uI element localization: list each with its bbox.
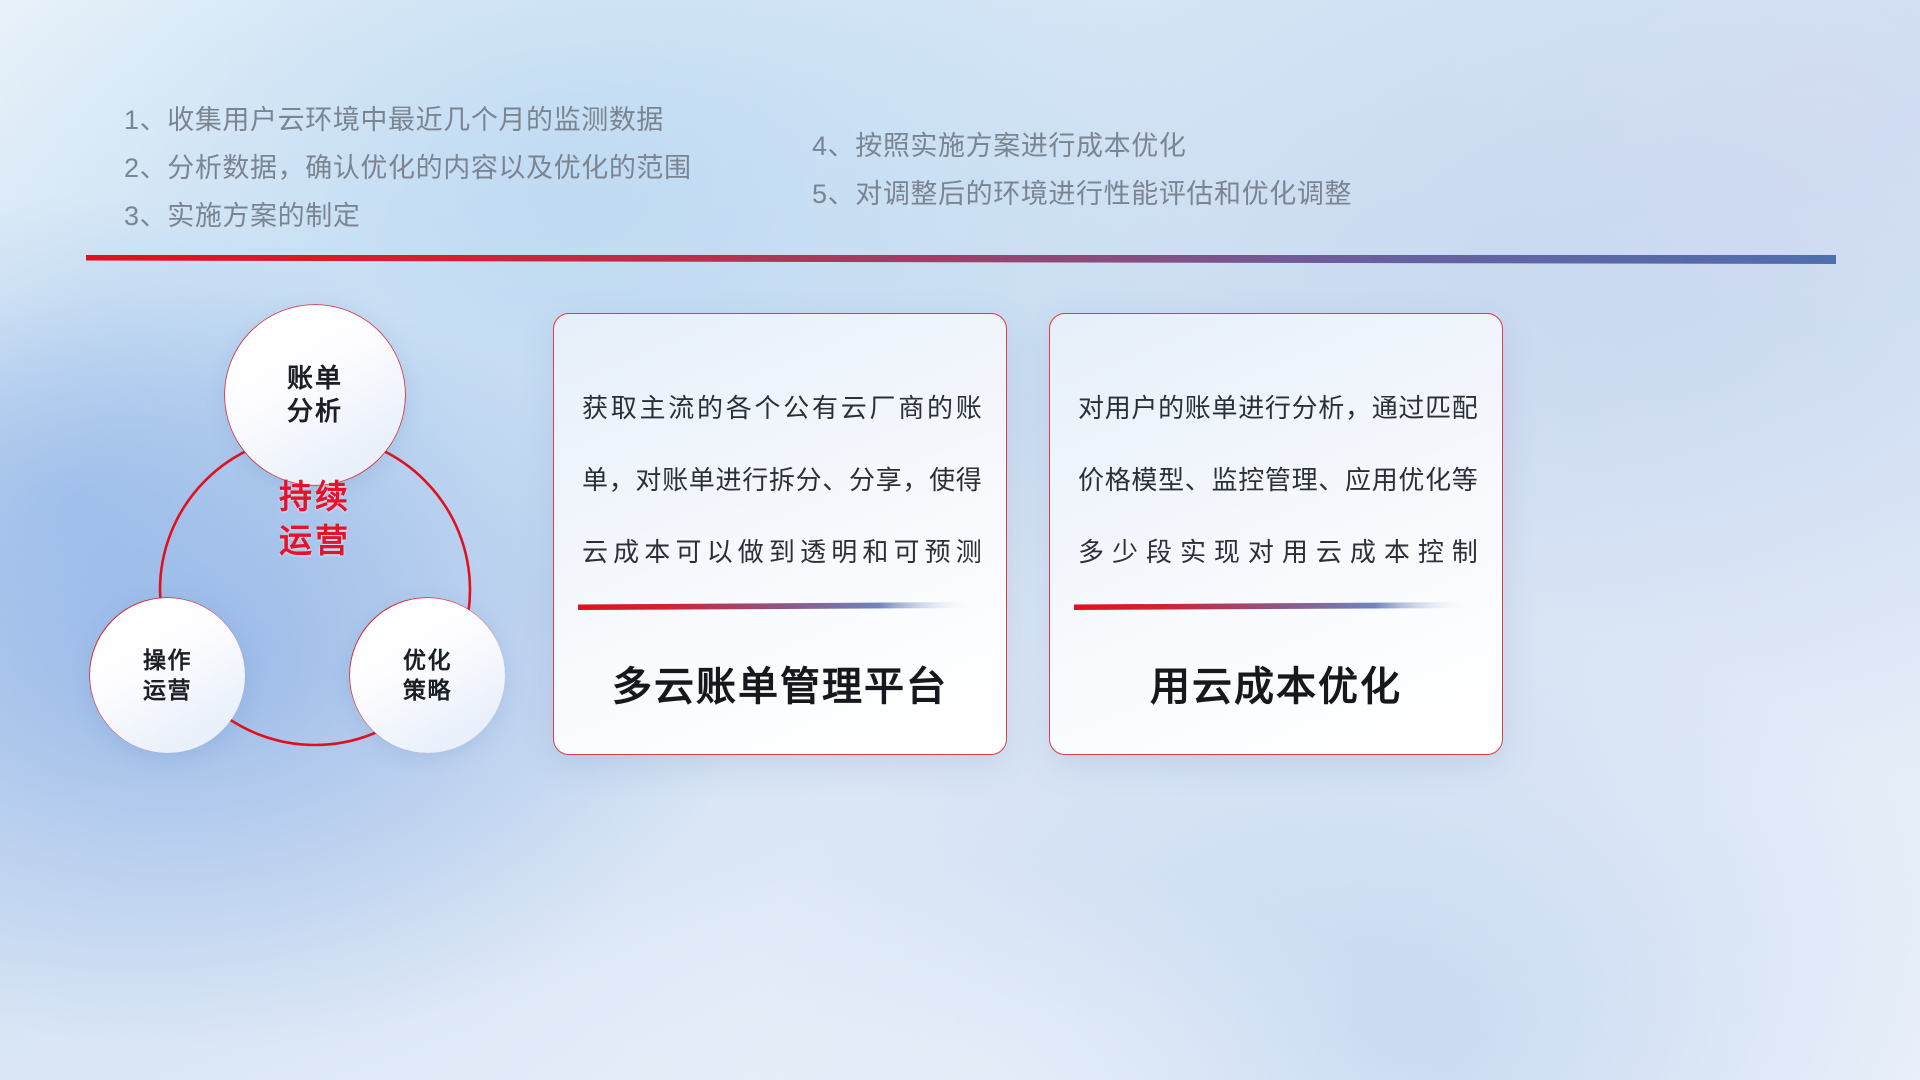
- center-label-line-1: 持续: [80, 475, 550, 519]
- card-body-text: 获取主流的各个公有云厂商的账单，对账单进行拆分、分享，使得云成本可以做到透明和可…: [582, 372, 982, 588]
- step-item-2: 2、分析数据，确认优化的内容以及优化的范围: [124, 144, 692, 192]
- bubble-label-line-1: 优化: [403, 646, 452, 675]
- venn-center-label: 持续 运营: [80, 475, 550, 562]
- steps-list-left: 1、收集用户云环境中最近几个月的监测数据 2、分析数据，确认优化的内容以及优化的…: [124, 96, 692, 240]
- bubble-label-line-2: 策略: [403, 676, 452, 705]
- card-cloud-cost-optimization[interactable]: 对用户的账单进行分析，通过匹配价格模型、监控管理、应用优化等多少段实现对用云成本…: [1049, 313, 1503, 755]
- card-divider-line: [578, 602, 974, 610]
- bubble-label-line-1: 账单: [287, 362, 343, 395]
- venn-bubble-bill-analysis[interactable]: 账单 分析: [225, 305, 405, 485]
- bubble-label-line-2: 分析: [287, 395, 343, 428]
- venn-diagram: 持续 运营 账单 分析 操作 运营 优化 策略: [80, 290, 550, 770]
- step-item-3: 3、实施方案的制定: [124, 192, 692, 240]
- bubble-label-line-1: 操作: [143, 646, 192, 675]
- card-divider-line: [1074, 602, 1470, 610]
- venn-bubble-operation-ops[interactable]: 操作 运营: [90, 598, 245, 753]
- steps-list-right: 4、按照实施方案进行成本优化 5、对调整后的环境进行性能评估和优化调整: [812, 122, 1352, 218]
- step-item-5: 5、对调整后的环境进行性能评估和优化调整: [812, 170, 1352, 218]
- card-title: 多云账单管理平台: [554, 654, 1006, 712]
- step-item-1: 1、收集用户云环境中最近几个月的监测数据: [124, 96, 692, 144]
- bubble-label-line-2: 运营: [143, 676, 192, 705]
- card-title: 用云成本优化: [1050, 654, 1502, 712]
- card-body-text: 对用户的账单进行分析，通过匹配价格模型、监控管理、应用优化等多少段实现对用云成本…: [1078, 372, 1478, 588]
- venn-bubble-optimization-strategy[interactable]: 优化 策略: [350, 598, 505, 753]
- center-label-line-2: 运营: [80, 519, 550, 563]
- slide-canvas: 1、收集用户云环境中最近几个月的监测数据 2、分析数据，确认优化的内容以及优化的…: [0, 0, 1920, 1080]
- section-divider-bar: [86, 255, 1836, 264]
- card-multi-cloud-billing-platform[interactable]: 获取主流的各个公有云厂商的账单，对账单进行拆分、分享，使得云成本可以做到透明和可…: [553, 313, 1007, 755]
- step-item-4: 4、按照实施方案进行成本优化: [812, 122, 1352, 170]
